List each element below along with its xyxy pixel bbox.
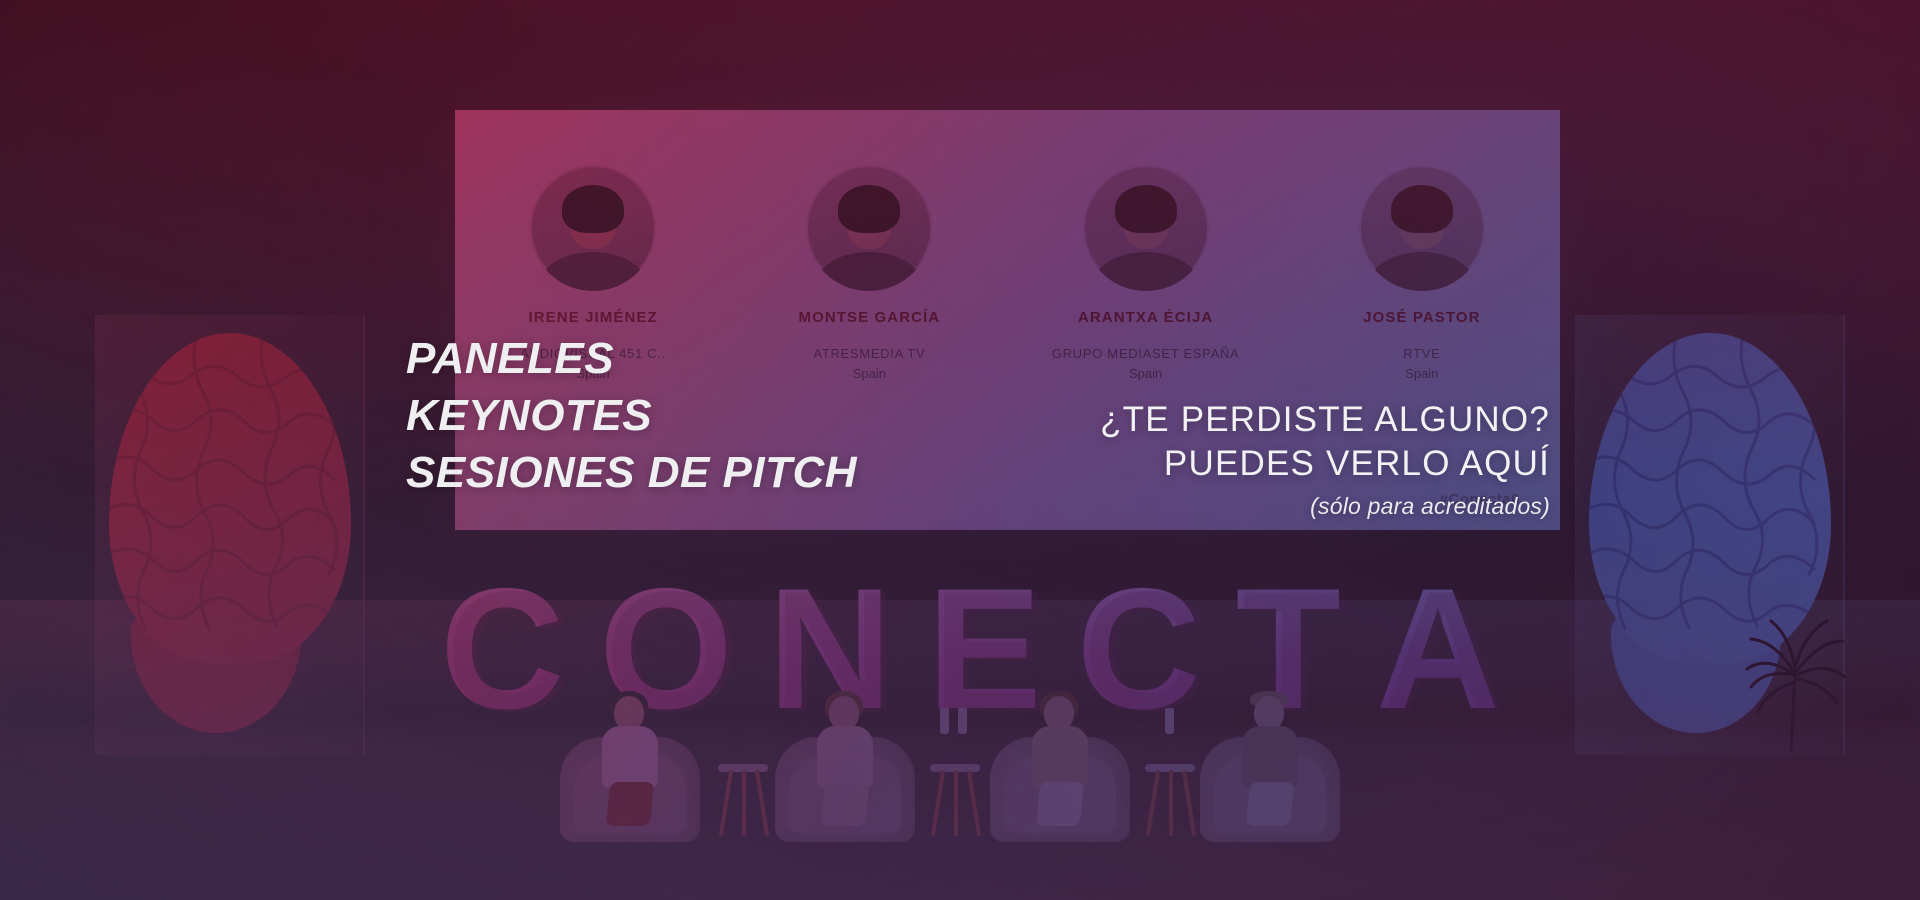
headline-line-3: SESIONES DE PITCH: [406, 444, 966, 501]
headline-line-2: KEYNOTES: [406, 387, 966, 444]
callout-block[interactable]: ¿TE PERDISTE ALGUNO? PUEDES VERLO AQUÍ (…: [1100, 398, 1550, 520]
headline-block: PANELES KEYNOTES SESIONES DE PITCH: [406, 330, 966, 502]
callout-question: ¿TE PERDISTE ALGUNO?: [1100, 398, 1550, 442]
callout-note: (sólo para acreditados): [1100, 493, 1550, 520]
callout-action[interactable]: PUEDES VERLO AQUÍ: [1100, 442, 1550, 486]
event-promo-banner: IRENE JIMÉNEZ AUDIOVISUAL 451 C.. Spain …: [0, 0, 1920, 900]
headline-line-1: PANELES: [406, 330, 966, 387]
